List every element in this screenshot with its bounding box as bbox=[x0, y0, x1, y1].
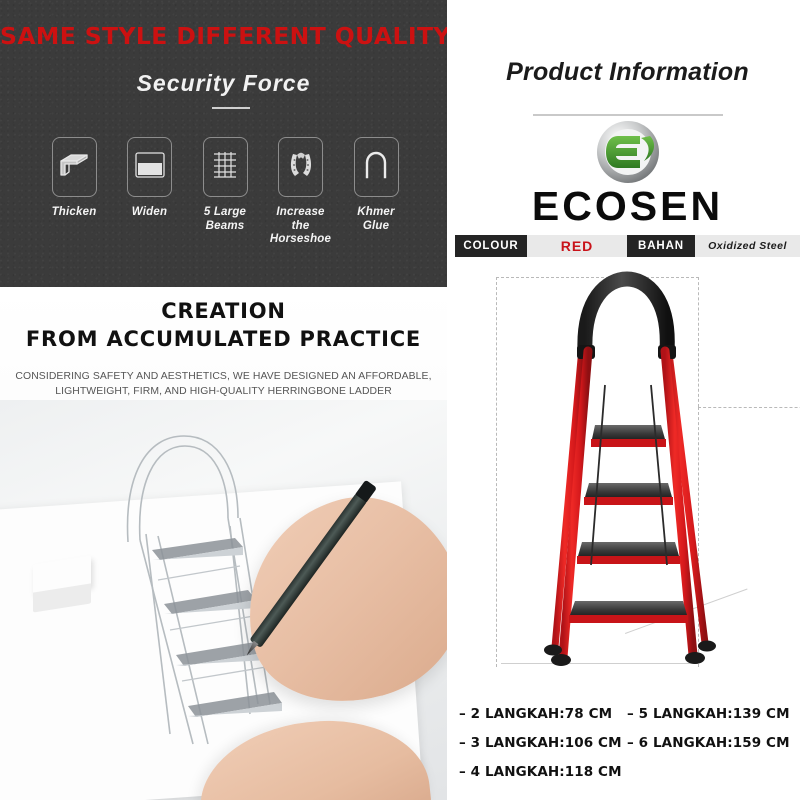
headline-same-style: SAME STYLE DIFFERENT QUALITY bbox=[0, 22, 447, 50]
horseshoe-icon-box bbox=[278, 137, 323, 197]
right-column: Product Information bbox=[455, 0, 800, 800]
spec-key-bahan: BAHAN bbox=[627, 235, 695, 257]
spec-key-colour: COLOUR bbox=[455, 235, 527, 257]
creation-title-line2: FROM ACCUMULATED PRACTICE bbox=[0, 327, 447, 351]
creation-title-line1: CREATION bbox=[0, 299, 447, 323]
dimension-4-langkah: – 4 LANGKAH:118 CM bbox=[459, 764, 627, 780]
brand-name: ECOSEN bbox=[455, 183, 800, 230]
subhead-divider-rule bbox=[212, 107, 250, 109]
dimension-3-langkah: – 3 LANGKAH:106 CM bbox=[459, 735, 627, 751]
dimension-list: – 2 LANGKAH:78 CM – 5 LANGKAH:139 CM – 3… bbox=[459, 706, 800, 793]
widen-plate-icon bbox=[135, 151, 165, 184]
spec-value-material: Oxidized Steel bbox=[695, 235, 800, 257]
dimension-row: – 4 LANGKAH:118 CM bbox=[459, 764, 800, 780]
dimension-6-langkah: – 6 LANGKAH:159 CM bbox=[627, 735, 795, 751]
beams-icon-box bbox=[203, 137, 248, 197]
features-dark-panel: SAME STYLE DIFFERENT QUALITY Security Fo… bbox=[0, 0, 447, 287]
product-information-title: Product Information bbox=[455, 58, 800, 87]
horseshoe-icon bbox=[287, 150, 315, 185]
thicken-icon-box bbox=[52, 137, 97, 197]
spec-bar: COLOUR RED BAHAN Oxidized Steel bbox=[455, 235, 800, 257]
column-divider bbox=[447, 0, 455, 800]
feature-label-horseshoe: IncreasetheHorseshoe bbox=[270, 206, 331, 247]
feature-label-widen: Widen bbox=[132, 206, 167, 220]
dimension-5-langkah: – 5 LANGKAH:139 CM bbox=[627, 706, 795, 722]
feature-horseshoe: IncreasetheHorseshoe bbox=[267, 137, 335, 247]
feature-label-beams: 5 LargeBeams bbox=[204, 206, 246, 233]
feature-beams: 5 LargeBeams bbox=[191, 137, 259, 233]
feature-list: Thicken Widen bbox=[40, 137, 410, 272]
feature-thicken: Thicken bbox=[40, 137, 108, 220]
angle-profile-icon bbox=[58, 152, 90, 183]
dimension-empty bbox=[627, 764, 795, 780]
red-steel-step-ladder-photo bbox=[455, 265, 800, 700]
dimension-row: – 2 LANGKAH:78 CM – 5 LANGKAH:139 CM bbox=[459, 706, 800, 722]
title-divider-rule bbox=[533, 114, 723, 116]
arch-glue-icon bbox=[362, 150, 390, 185]
dimension-row: – 3 LANGKAH:106 CM – 6 LANGKAH:159 CM bbox=[459, 735, 800, 751]
feature-khmer-glue: KhmerGlue bbox=[342, 137, 410, 233]
ecosen-e-badge-logo bbox=[595, 119, 661, 190]
hand-sketching-ladder-photo bbox=[0, 400, 447, 800]
creation-panel: CREATION FROM ACCUMULATED PRACTICE CONSI… bbox=[0, 287, 447, 800]
product-infographic: SAME STYLE DIFFERENT QUALITY Security Fo… bbox=[0, 0, 800, 800]
feature-label-thicken: Thicken bbox=[52, 206, 97, 220]
left-column: SAME STYLE DIFFERENT QUALITY Security Fo… bbox=[0, 0, 447, 800]
grid-beams-icon bbox=[211, 150, 239, 185]
widen-icon-box bbox=[127, 137, 172, 197]
spec-value-colour: RED bbox=[527, 235, 627, 257]
subhead-security-force: Security Force bbox=[0, 70, 447, 97]
feature-widen: Widen bbox=[116, 137, 184, 220]
brand-logo bbox=[455, 118, 800, 190]
khmer-glue-icon-box bbox=[354, 137, 399, 197]
feature-label-khmer-glue: KhmerGlue bbox=[357, 206, 394, 233]
dimension-2-langkah: – 2 LANGKAH:78 CM bbox=[459, 706, 627, 722]
creation-subtitle: CONSIDERING SAFETY AND AESTHETICS, WE HA… bbox=[8, 369, 439, 399]
